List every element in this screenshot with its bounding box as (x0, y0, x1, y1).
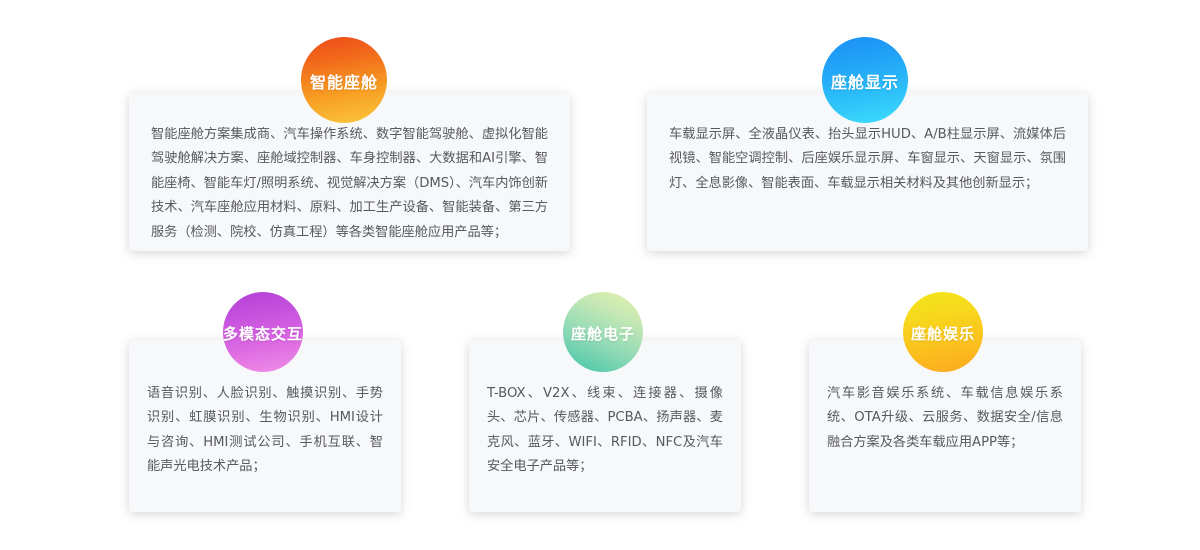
category-card-description: 汽车影音娱乐系统、车载信息娱乐系统、OTA升级、云服务、数据安全/信息融合方案及… (809, 382, 1081, 455)
category-card-intelligent-cockpit[interactable]: 智能座舱 智能座舱方案集成商、汽车操作系统、数字智能驾驶舱、虚拟化智能驾驶舱解决… (129, 93, 570, 251)
category-card-cockpit-display[interactable]: 座舱显示 车载显示屏、全液晶仪表、抬头显示HUD、A/B柱显示屏、流媒体后视镜、… (647, 93, 1088, 251)
category-card-description: 车载显示屏、全液晶仪表、抬头显示HUD、A/B柱显示屏、流媒体后视镜、智能空调控… (647, 123, 1088, 196)
category-badge-label: 座舱娱乐 (911, 323, 975, 344)
category-card-description: T-BOX、V2X、线束、连接器、摄像头、芯片、传感器、PCBA、扬声器、麦克风… (469, 382, 741, 480)
category-badge-cockpit-display: 座舱显示 (822, 37, 908, 123)
category-badge-label: 座舱显示 (831, 69, 899, 93)
category-card-multimodal-interaction[interactable]: 多模态交互 语音识别、人脸识别、触摸识别、手势识别、虹膜识别、生物识别、HMI设… (129, 340, 401, 512)
category-badge-cockpit-entertainment: 座舱娱乐 (903, 292, 983, 372)
category-card-description: 语音识别、人脸识别、触摸识别、手势识别、虹膜识别、生物识别、HMI设计与咨询、H… (129, 382, 401, 480)
category-card-cockpit-entertainment[interactable]: 座舱娱乐 汽车影音娱乐系统、车载信息娱乐系统、OTA升级、云服务、数据安全/信息… (809, 340, 1081, 512)
category-badge-label: 座舱电子 (571, 323, 635, 344)
category-cards-stage: 智能座舱 智能座舱方案集成商、汽车操作系统、数字智能驾驶舱、虚拟化智能驾驶舱解决… (0, 0, 1200, 550)
category-badge-multimodal-interaction: 多模态交互 (223, 292, 303, 372)
category-badge-cockpit-electronics: 座舱电子 (563, 292, 643, 372)
category-badge-label: 多模态交互 (223, 323, 303, 344)
category-card-cockpit-electronics[interactable]: 座舱电子 T-BOX、V2X、线束、连接器、摄像头、芯片、传感器、PCBA、扬声… (469, 340, 741, 512)
category-badge-label: 智能座舱 (310, 69, 378, 93)
category-card-description: 智能座舱方案集成商、汽车操作系统、数字智能驾驶舱、虚拟化智能驾驶舱解决方案、座舱… (129, 123, 570, 245)
category-badge-intelligent-cockpit: 智能座舱 (301, 37, 387, 123)
